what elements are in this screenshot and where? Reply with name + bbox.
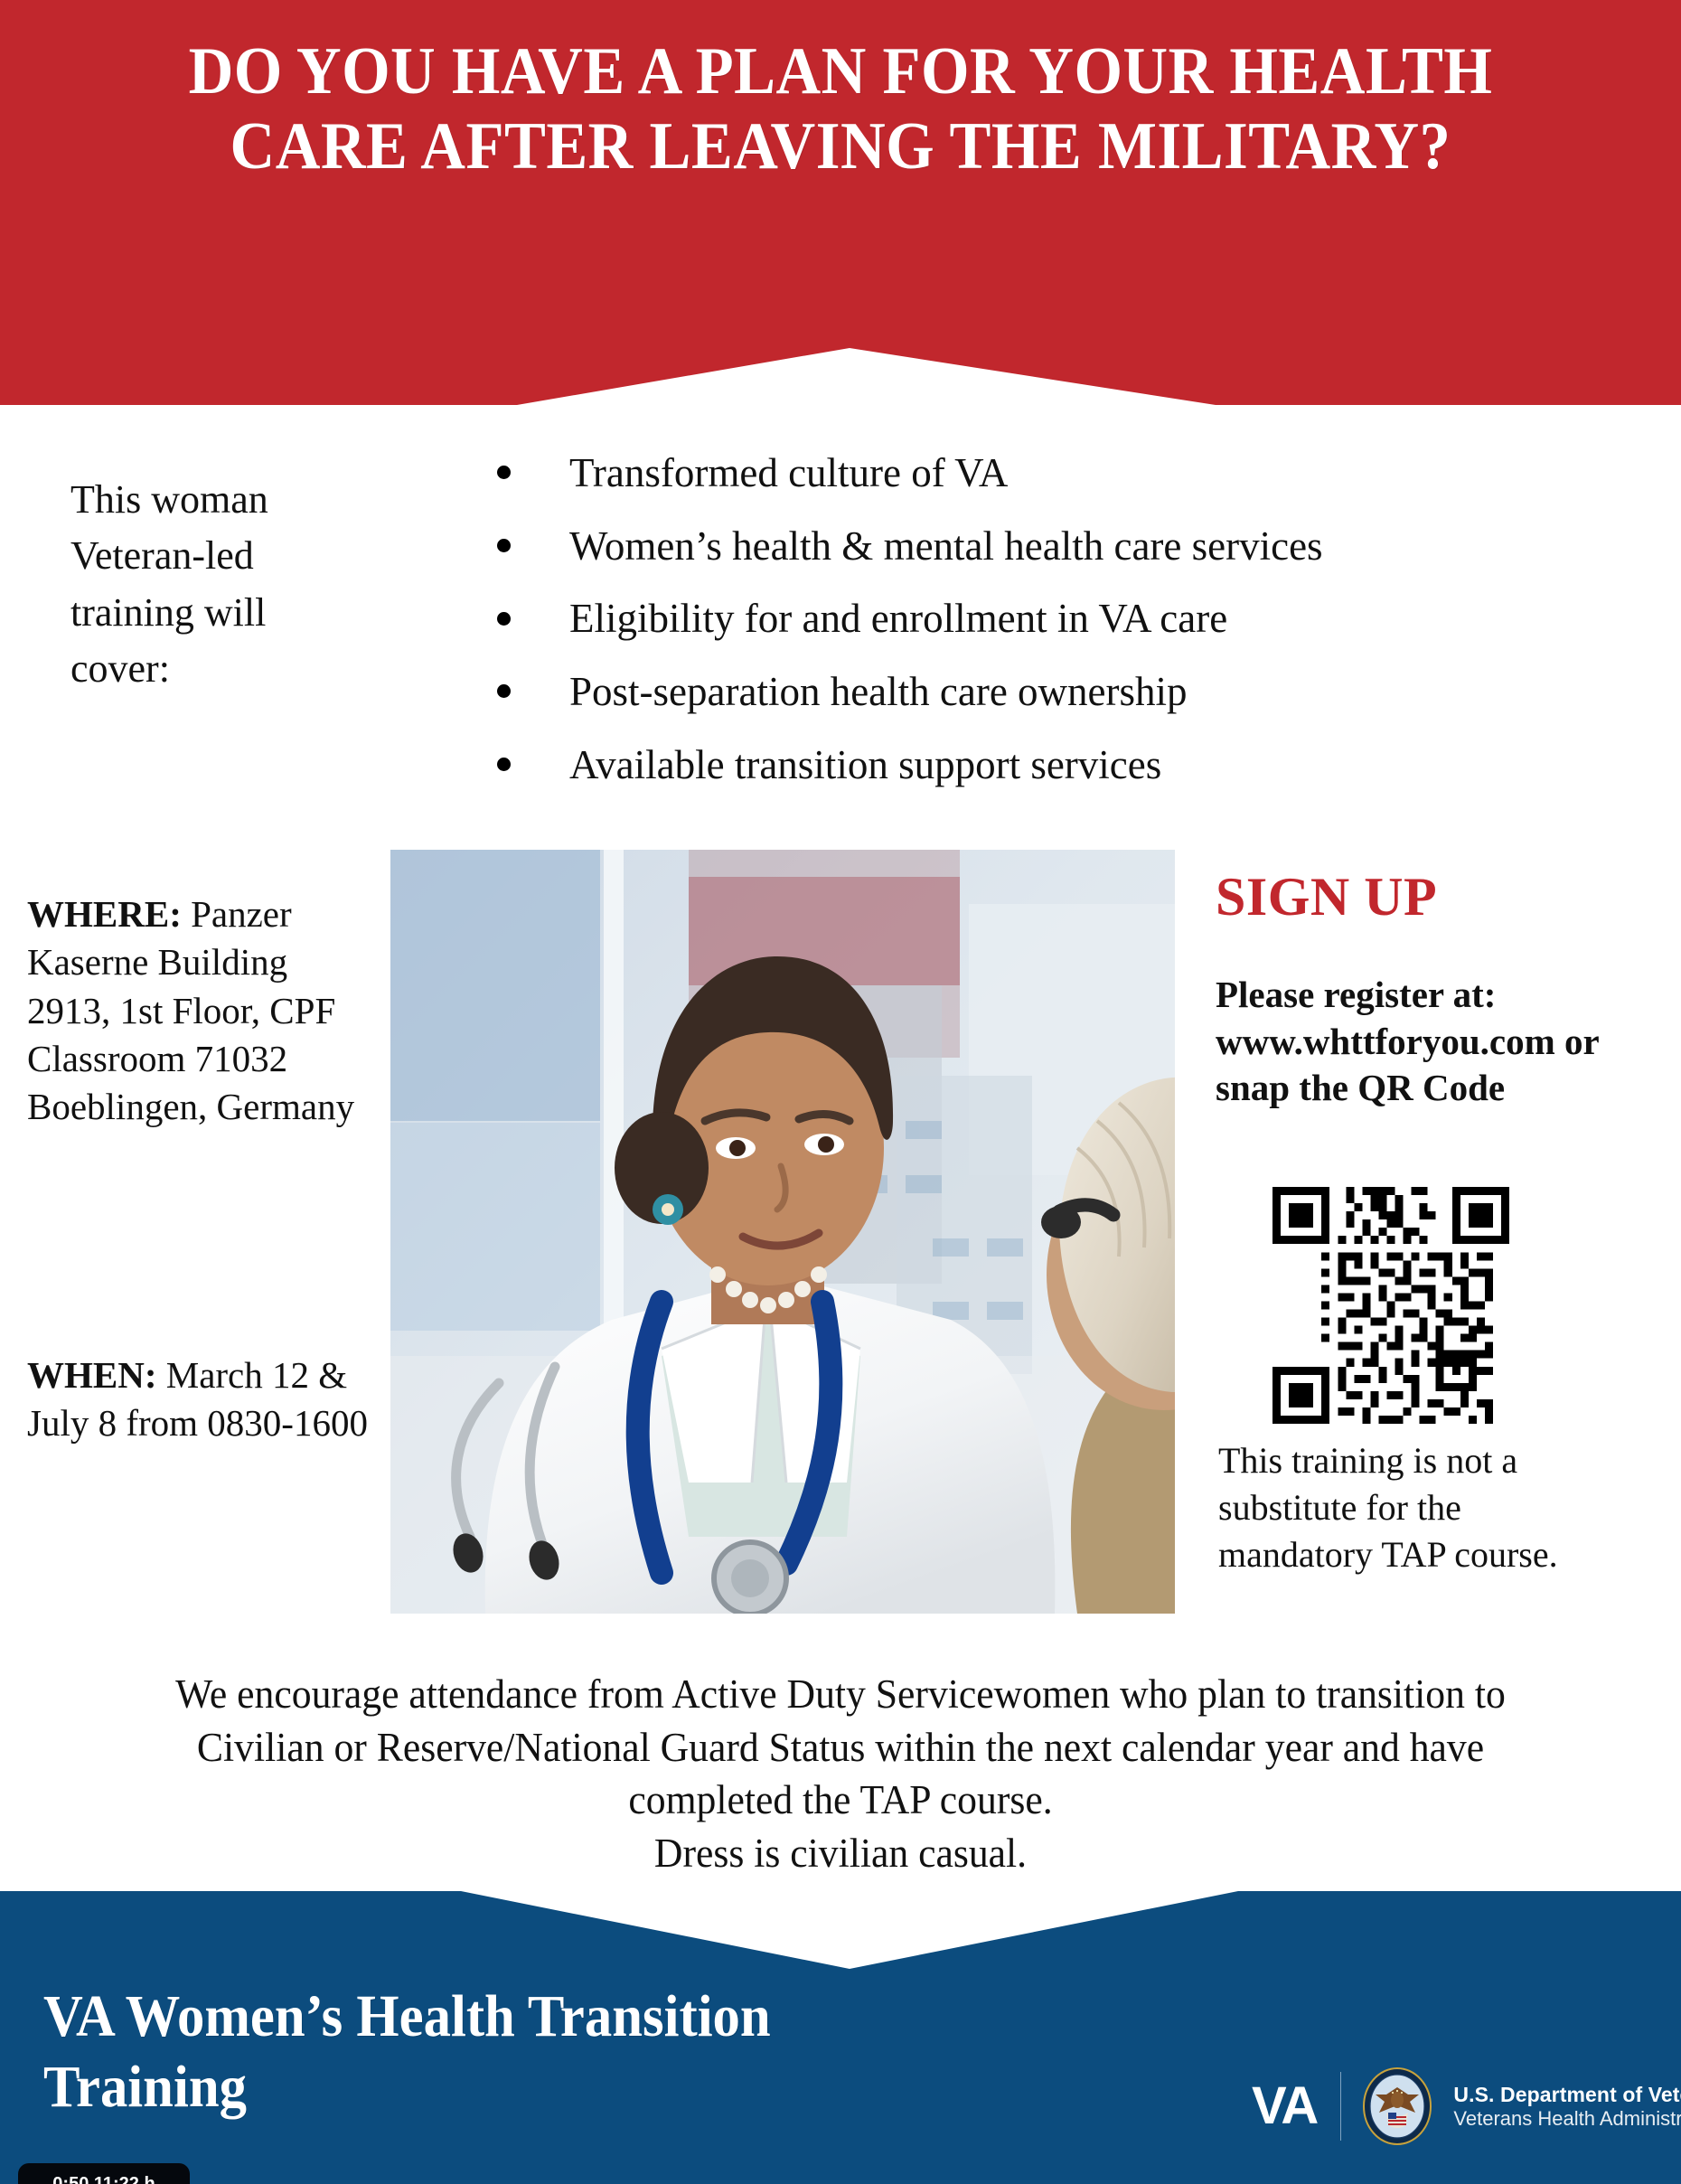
logo-divider xyxy=(1340,2072,1341,2141)
page-title: DO YOU HAVE A PLAN FOR YOUR HEALTH CARE … xyxy=(59,34,1622,184)
when-block: WHEN: March 12 & July 8 from 0830-1600 xyxy=(27,1351,380,1448)
va-seal-icon xyxy=(1363,2067,1432,2145)
list-item: Eligibility for and enrollment in VA car… xyxy=(474,598,1586,641)
dress-code-text: Dress is civilian casual. xyxy=(122,1827,1560,1880)
bullet-dot-icon xyxy=(497,684,511,698)
overlay-badge: 0:50 11:22 h xyxy=(18,2163,190,2184)
bullet-dot-icon xyxy=(497,612,511,626)
where-label: WHERE: xyxy=(27,893,182,935)
list-item-label: Post-separation health care ownership xyxy=(569,669,1188,714)
list-item-label: Eligibility for and enrollment in VA car… xyxy=(569,596,1227,641)
flyer-page: DO YOU HAVE A PLAN FOR YOUR HEALTH CARE … xyxy=(0,0,1681,2184)
list-item-label: Available transition support services xyxy=(569,742,1161,787)
list-item: Women’s health & mental health care serv… xyxy=(474,525,1586,569)
bullet-dot-icon xyxy=(497,466,511,479)
list-item-label: Transformed culture of VA xyxy=(569,450,1008,495)
closing-text: We encourage attendance from Active Duty… xyxy=(175,1671,1506,1822)
when-label: WHEN: xyxy=(27,1354,157,1396)
signup-instructions: Please register at: www.whttforyou.com o… xyxy=(1216,972,1681,1112)
list-item-label: Women’s health & mental health care serv… xyxy=(569,523,1323,569)
bullet-dot-icon xyxy=(497,758,511,771)
va-administration-name: Veterans Health Administration xyxy=(1453,2107,1681,2130)
doctor-patient-photo xyxy=(390,850,1175,1614)
intro-label: This woman Veteran-led training will cov… xyxy=(70,472,342,698)
list-item: Available transition support services xyxy=(474,744,1586,787)
bullet-dot-icon xyxy=(497,539,511,552)
va-agency-text: U.S. Department of Veterans Affairs Vete… xyxy=(1453,2083,1681,2131)
va-logo-lockup: VA U.S. Department of Vetera xyxy=(1252,2067,1681,2145)
signup-heading: SIGN UP xyxy=(1216,866,1437,928)
va-department-name: U.S. Department of Veterans Affairs xyxy=(1453,2083,1681,2106)
list-item: Post-separation health care ownership xyxy=(474,671,1586,714)
va-wordmark: VA xyxy=(1252,2080,1317,2132)
program-title: VA Women’s Health Transition Training xyxy=(43,1982,792,2123)
list-item: Transformed culture of VA xyxy=(474,452,1586,495)
training-topics-list: Transformed culture of VA Women’s health… xyxy=(474,452,1586,816)
qr-code-icon[interactable] xyxy=(1272,1187,1509,1424)
training-disclaimer: This training is not a substitute for th… xyxy=(1218,1437,1607,1578)
where-block: WHERE: Panzer Kaserne Building 2913, 1st… xyxy=(27,890,380,1131)
closing-paragraph: We encourage attendance from Active Duty… xyxy=(122,1668,1560,1879)
